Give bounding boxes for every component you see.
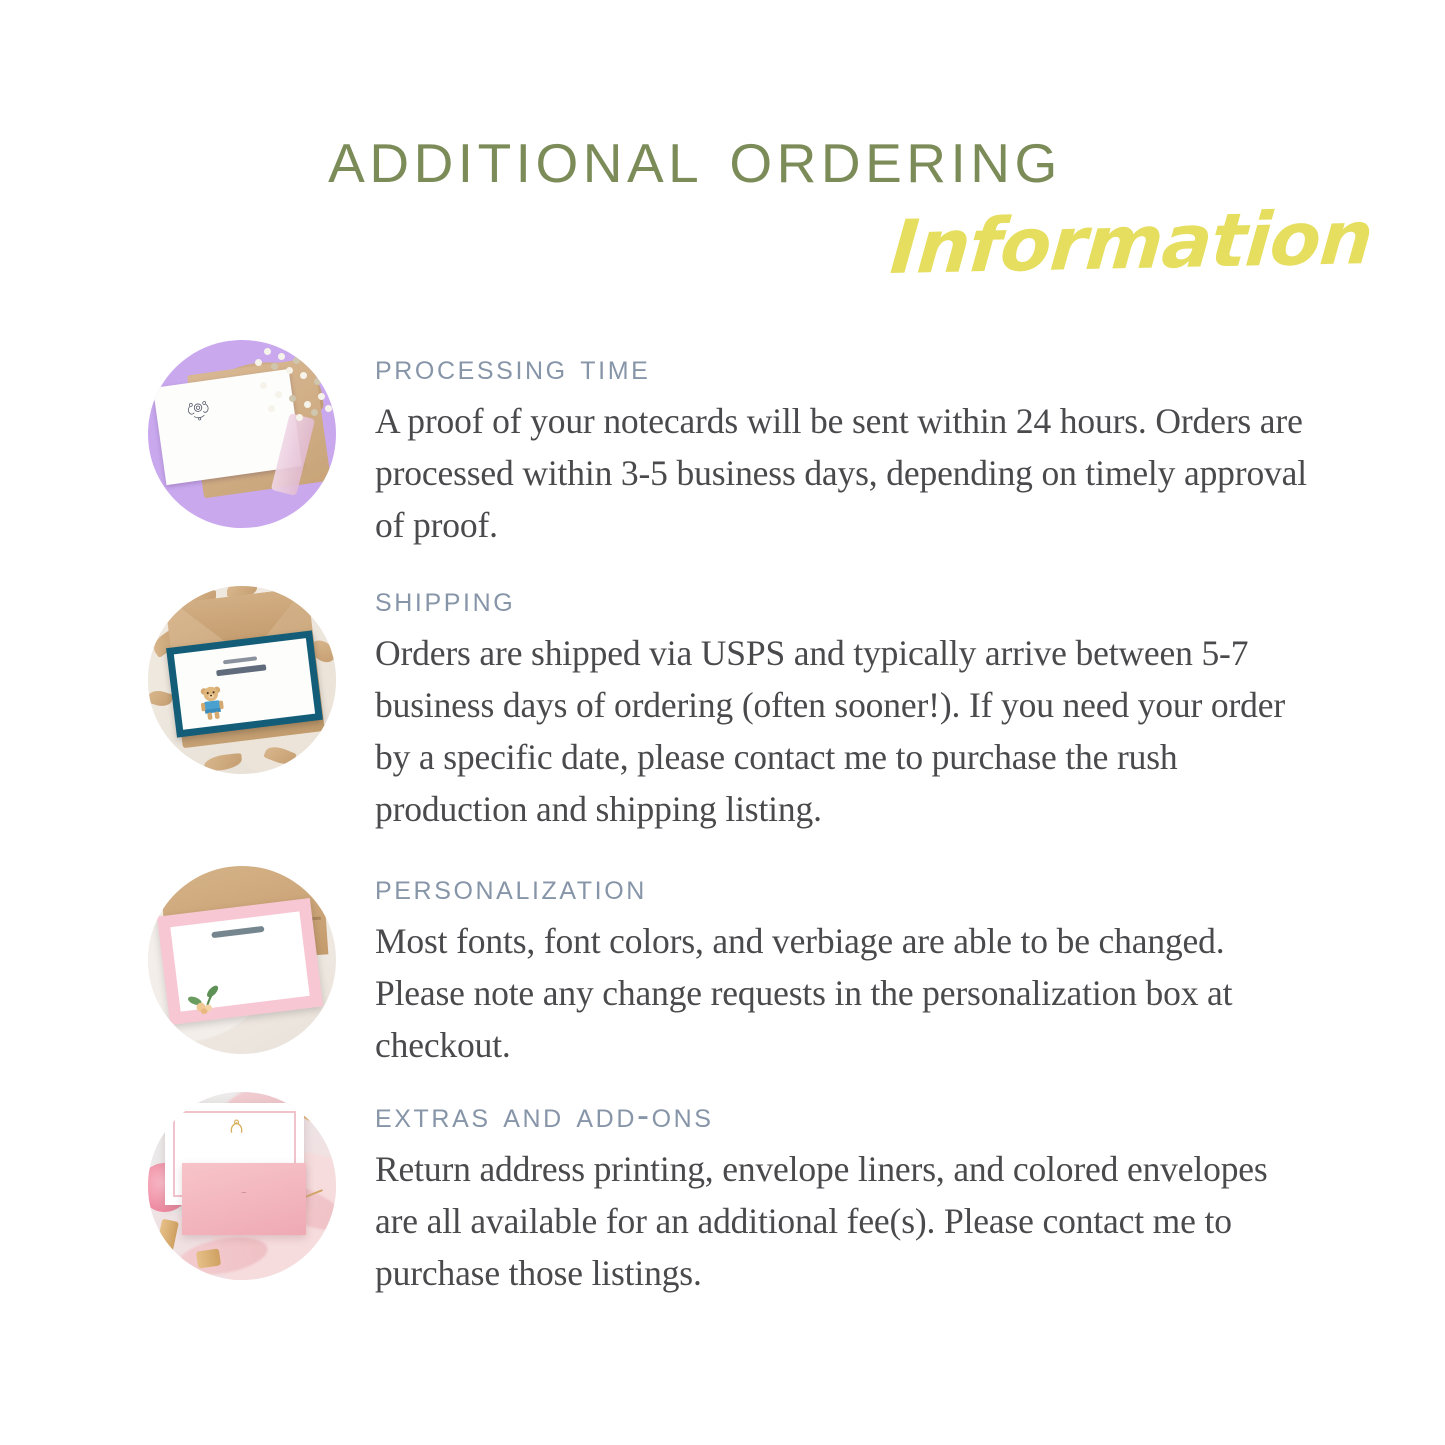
thumbnail-wrapper	[148, 586, 336, 774]
pink-scallop-notecard-photo	[148, 866, 336, 1054]
thumbnail-wrapper	[148, 340, 336, 528]
section-body: A proof of your notecards will be sent w…	[375, 395, 1308, 551]
section-text: Shipping Orders are shipped via USPS and…	[375, 574, 1308, 835]
section-heading: Extras and Add-Ons	[375, 1094, 1308, 1136]
teddy-bear-icon	[189, 681, 233, 722]
page-title-script: Information	[0, 190, 1376, 315]
section-body: Return address printing, envelope liners…	[375, 1143, 1308, 1299]
teddy-bear-notecard-photo	[148, 586, 336, 774]
section-text: Extras and Add-Ons Return address printi…	[375, 1088, 1308, 1299]
info-section-extras-and-add-ons: Extras and Add-Ons Return address printi…	[148, 1088, 1308, 1299]
section-heading: Personalization	[375, 866, 1308, 908]
thumbnail-wrapper	[148, 866, 336, 1054]
page-title-primary: Additional Ordering	[0, 112, 1390, 198]
section-body: Most fonts, font colors, and verbiage ar…	[375, 915, 1308, 1071]
section-heading: Shipping	[375, 578, 1308, 620]
page-title-block: Additional Ordering Information	[0, 112, 1445, 312]
lavender-notecard-photo	[148, 340, 336, 528]
floral-monogram-icon	[182, 395, 215, 423]
info-section-shipping: Shipping Orders are shipped via USPS and…	[148, 574, 1308, 835]
gold-monogram-icon	[227, 1118, 246, 1136]
section-body: Orders are shipped via USPS and typicall…	[375, 627, 1308, 835]
info-section-personalization: Personalization Most fonts, font colors,…	[148, 860, 1308, 1071]
thumbnail-wrapper	[148, 1092, 336, 1280]
info-section-processing-time: Processing Time A proof of your notecard…	[148, 340, 1308, 551]
floral-sprig-icon	[175, 972, 232, 1017]
section-text: Personalization Most fonts, font colors,…	[375, 860, 1308, 1071]
section-text: Processing Time A proof of your notecard…	[375, 340, 1308, 551]
section-heading: Processing Time	[375, 346, 1308, 388]
pink-envelope-notecard-photo	[148, 1092, 336, 1280]
babys-breath-flowers	[250, 340, 336, 445]
